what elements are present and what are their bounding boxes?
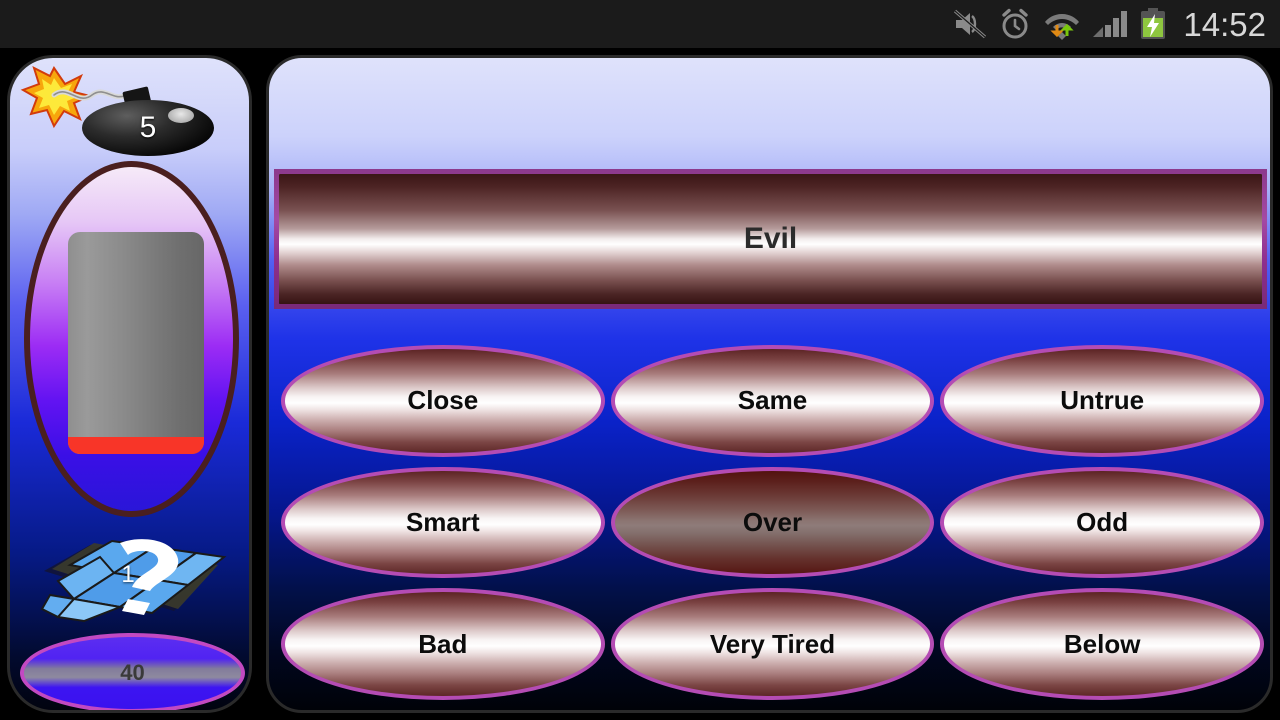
answer-button-1[interactable]: Same <box>611 345 935 457</box>
answer-label: Over <box>733 507 812 538</box>
bomb-counter: 5 <box>20 62 220 158</box>
question-banner: Evil <box>274 169 1267 309</box>
word-card[interactable] <box>68 232 204 454</box>
answer-label: Smart <box>396 507 490 538</box>
bomb-count-label: 5 <box>82 100 214 156</box>
answer-button-4[interactable]: Over <box>611 467 935 579</box>
answer-label: Same <box>728 385 817 416</box>
answer-label: Below <box>1054 629 1151 660</box>
answer-button-6[interactable]: Bad <box>281 588 605 700</box>
hint-count-label: 1 <box>28 525 238 625</box>
answer-button-8[interactable]: Below <box>940 588 1264 700</box>
status-clock: 14:52 <box>1183 8 1266 41</box>
wifi-icon <box>1043 8 1081 40</box>
card-frame <box>24 161 239 517</box>
answer-button-3[interactable]: Smart <box>281 467 605 579</box>
answer-button-5[interactable]: Odd <box>940 467 1264 579</box>
answer-button-0[interactable]: Close <box>281 345 605 457</box>
hint-button[interactable]: 1 <box>28 525 238 625</box>
main-panel: Evil Close Same Untrue Smart Over Odd Ba… <box>266 55 1273 713</box>
score-badge[interactable]: 40 <box>20 633 245 713</box>
game-area: 5 <box>0 48 1280 720</box>
answer-label: Very Tired <box>700 629 845 660</box>
battery-charging-icon <box>1139 8 1167 40</box>
answers-grid: Close Same Untrue Smart Over Odd Bad Ver… <box>281 340 1264 705</box>
answer-label: Odd <box>1066 507 1138 538</box>
signal-icon <box>1092 9 1128 39</box>
answer-label: Untrue <box>1050 385 1154 416</box>
score-value: 40 <box>120 660 144 686</box>
question-word: Evil <box>744 222 797 256</box>
answer-label: Close <box>397 385 488 416</box>
status-bar: 14:52 <box>0 0 1280 48</box>
sidebar-panel: 5 <box>7 55 252 713</box>
alarm-icon <box>998 8 1032 40</box>
mute-icon <box>953 9 987 39</box>
answer-button-7[interactable]: Very Tired <box>611 588 935 700</box>
answer-label: Bad <box>408 629 477 660</box>
card-progress-bar <box>68 437 204 454</box>
answer-button-2[interactable]: Untrue <box>940 345 1264 457</box>
